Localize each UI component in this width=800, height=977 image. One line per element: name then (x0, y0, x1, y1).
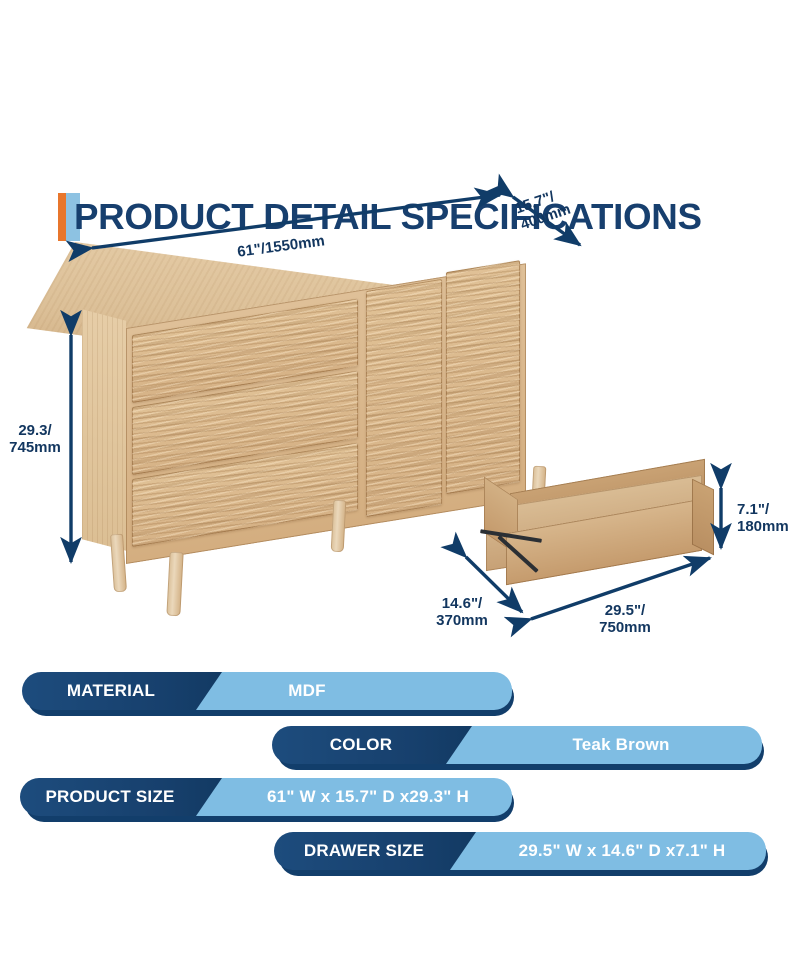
drawer-height-dimension-label: 7.1"/ 180mm (737, 501, 789, 535)
drawer-depth-dimension-label: 14.6"/ 370mm (424, 595, 500, 629)
spec-row-product-size: PRODUCT SIZE 61" W x 15.7" D x29.3" H (20, 778, 512, 818)
product-illustration: 61"/1550mm 15.7"/ 400mm 29.3/ 745mm 7.1"… (0, 170, 800, 660)
spec-row-material: MATERIAL MDF (22, 672, 512, 712)
drawer-width-dimension-label: 29.5"/ 750mm (585, 602, 665, 636)
dimension-arrows (0, 170, 800, 660)
spec-row-drawer-size: DRAWER SIZE 29.5" W x 14.6" D x7.1" H (274, 832, 766, 872)
page-header: PRODUCT DETAIL SPECIFICATIONS (0, 94, 800, 150)
specification-list: MATERIAL MDF COLOR Teak Brown PRODUCT SI… (0, 668, 800, 898)
spec-row-color: COLOR Teak Brown (272, 726, 762, 766)
height-dimension-label: 29.3/ 745mm (4, 422, 66, 456)
